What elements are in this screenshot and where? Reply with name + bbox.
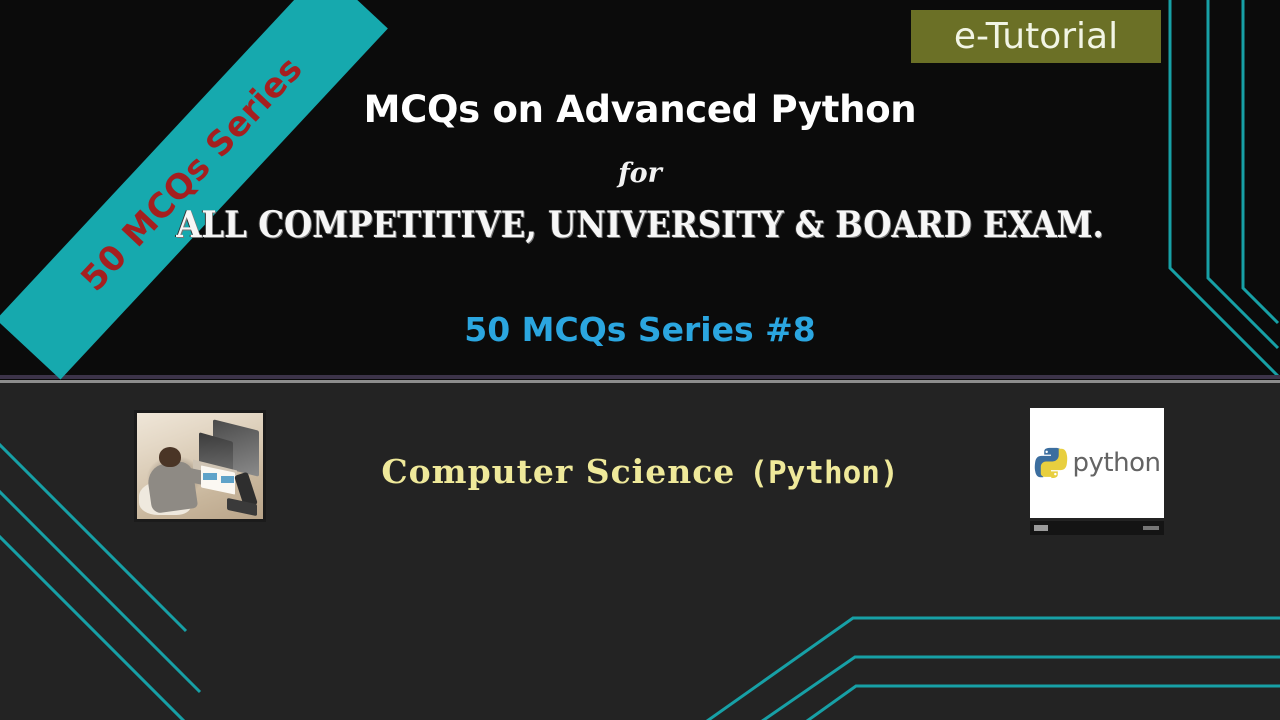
python-logo-card: python <box>1030 408 1164 518</box>
python-logo-caption-bar <box>1030 521 1164 535</box>
python-wordmark: python <box>1073 448 1161 478</box>
python-logo-row: python <box>1034 446 1161 480</box>
photo-document-chart-b <box>221 476 234 483</box>
divider-gray <box>0 380 1280 383</box>
divider-purple <box>0 375 1280 379</box>
e-tutorial-badge-label: e-Tutorial <box>954 16 1118 57</box>
subject-name: Computer Science <box>381 452 735 491</box>
target-audience-line: ALL COMPETITIVE, UNIVERSITY & BOARD EXAM… <box>0 204 1280 246</box>
caption-bar-left-marker <box>1034 525 1048 531</box>
e-tutorial-badge: e-Tutorial <box>911 10 1161 63</box>
page-title: MCQs on Advanced Python <box>0 88 1280 131</box>
photo-document-chart-a <box>203 473 217 480</box>
desk-photo <box>134 410 266 522</box>
series-number-label: 50 MCQs Series #8 <box>0 310 1280 349</box>
caption-bar-right-marker <box>1143 526 1159 530</box>
tutorial-title-slide: 50 MCQs Series e-Tutorial MCQs on Advanc… <box>0 0 1280 720</box>
photo-person-head <box>159 447 181 467</box>
python-logo-icon <box>1034 446 1068 480</box>
desk-photo-image <box>137 413 263 519</box>
subject-language: (Python) <box>749 455 898 491</box>
title-connector: for <box>0 158 1280 189</box>
